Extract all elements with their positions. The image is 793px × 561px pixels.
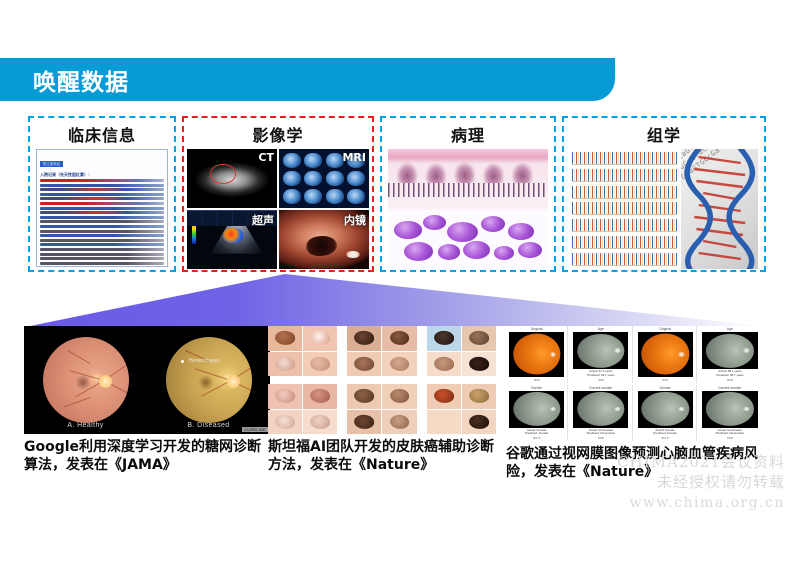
clinical-body: 院江源有始 入院记录（先天性胆红素）： bbox=[30, 149, 174, 270]
retina-cell-foot: 78.6 % bbox=[533, 437, 541, 441]
example-panel-skin-cancer[interactable]: 斯坦福AI团队开发的皮肤癌辅助诊断方法，发表在《Nature》 bbox=[268, 326, 496, 474]
retina-cell-caption: Actual: 58.1 years Predicted: 58.7 years bbox=[716, 370, 743, 378]
retina-image bbox=[573, 332, 628, 369]
retina-cell-title: Age bbox=[727, 327, 733, 331]
clinical-record-image: 院江源有始 入院记录（先天性胆红素）： bbox=[36, 149, 168, 267]
fundus-healthy-eye bbox=[43, 337, 129, 423]
dna-helix-icon bbox=[681, 149, 758, 269]
dna-helix-image: aGTGCcGaTTGCaGTGCcGaTTGC ccGGaTcCaGTGCcG… bbox=[681, 149, 758, 269]
retina-image bbox=[702, 391, 758, 428]
retina-image bbox=[509, 332, 564, 377]
slide-root: 唤醒数据 临床信息 院江源有始 入院记录（先天性胆红素）： bbox=[0, 0, 793, 561]
retina-image bbox=[702, 332, 758, 369]
fundus-pair-image: A. Healthy Hemorrhages bbox=[24, 326, 270, 434]
skin-quad bbox=[268, 326, 337, 376]
category-box-clinical[interactable]: 临床信息 院江源有始 入院记录（先天性胆红素）： bbox=[28, 116, 176, 272]
skin-quad bbox=[427, 326, 496, 376]
fundus-diseased: Hemorrhages B. Diseased bbox=[147, 326, 270, 434]
retina-cell-foot: RGB bbox=[598, 437, 604, 441]
retina-cell: Original RGB bbox=[506, 326, 568, 383]
retina-cell-title: Gender bbox=[660, 386, 671, 390]
ct-image: CT bbox=[187, 149, 277, 208]
retina-cell-foot: RGB bbox=[534, 379, 540, 383]
retina-cell-foot: 78.6 % bbox=[661, 437, 669, 441]
retina-cell: Current smoker Actual: Nonsmoker Predict… bbox=[699, 385, 761, 442]
skin-lesion-grid bbox=[268, 326, 496, 434]
title-banner: 唤醒数据 bbox=[0, 58, 615, 101]
retina-cell: Age Actual: 57.6 years Predicted: 59.1 y… bbox=[570, 326, 632, 383]
panel-caption-cardiovascular: 谷歌通过视网膜图像预测心脑血管疾病风险，发表在《Nature》 bbox=[506, 446, 761, 481]
skin-quad bbox=[347, 326, 416, 376]
retina-cell: Age Actual: 58.1 years Predicted: 58.7 y… bbox=[699, 326, 761, 383]
doc-tag: 院江源有始 bbox=[40, 161, 63, 167]
retina-cell: Original RGB bbox=[635, 326, 697, 383]
fundus-diseased-eye bbox=[166, 337, 252, 423]
retina-cell-caption: Actual: Female Predicted: Female bbox=[525, 429, 548, 437]
pathology-image bbox=[388, 149, 548, 269]
doc-title: 入院记录（先天性胆红素）： bbox=[40, 172, 164, 178]
ultrasound-label: 超声 bbox=[252, 212, 274, 228]
endoscopy-image: 内镜 bbox=[279, 210, 369, 269]
category-box-omics[interactable]: 组学 aGTGCcGaTTGCaGTGCcGaTTGC ccGGaTcCaGTG… bbox=[562, 116, 766, 272]
category-box-pathology[interactable]: 病理 bbox=[380, 116, 556, 272]
imaging-body: CT MRI bbox=[184, 149, 372, 270]
omics-body: aGTGCcGaTTGCaGTGCcGaTTGC ccGGaTcCaGTGCcG… bbox=[564, 149, 764, 270]
ct-label: CT bbox=[258, 151, 274, 164]
retina-image bbox=[573, 391, 628, 428]
examples-row: A. Healthy Hemorrhages bbox=[0, 326, 793, 496]
page-title: 唤醒数据 bbox=[33, 63, 129, 97]
retina-cell-caption: Actual: Female Predicted: Female bbox=[653, 429, 676, 437]
retina-cell: Gender Actual: Female Predicted: Female … bbox=[506, 385, 568, 442]
ultrasound-image: 超声 bbox=[187, 210, 277, 269]
example-panel-cardiovascular[interactable]: Original RGB Age Actual: 57.6 years Pred… bbox=[506, 326, 761, 481]
retina-image bbox=[509, 391, 564, 428]
panel-caption-skin-cancer: 斯坦福AI团队开发的皮肤癌辅助诊断方法，发表在《Nature》 bbox=[268, 439, 496, 474]
category-label-imaging: 影像学 bbox=[252, 122, 303, 146]
retina-cell-caption: Actual: Nonsmoker Predicted: Nonsmoker bbox=[587, 429, 616, 437]
retina-cell-title: Current smoker bbox=[589, 386, 612, 390]
retina-cell-title: Current smoker bbox=[718, 386, 741, 390]
example-panel-diabetic-retinopathy[interactable]: A. Healthy Hemorrhages bbox=[24, 326, 270, 474]
skin-quad bbox=[347, 384, 416, 434]
hemorrhage-annotation: Hemorrhages bbox=[189, 358, 219, 364]
retina-cell: Current smoker Actual: Nonsmoker Predict… bbox=[570, 385, 632, 442]
retina-cell-title: Age bbox=[598, 327, 604, 331]
retina-cell-title: Original bbox=[659, 327, 671, 331]
category-label-omics: 组学 bbox=[647, 122, 681, 146]
sequencing-chromatogram bbox=[570, 149, 679, 269]
pathology-body bbox=[382, 149, 554, 270]
omics-image: aGTGCcGaTTGCaGTGCcGaTTGC ccGGaTcCaGTGCcG… bbox=[570, 149, 758, 269]
mri-label: MRI bbox=[342, 151, 366, 164]
retina-cell-caption: Actual: 57.6 years Predicted: 59.1 years bbox=[587, 370, 614, 378]
fundus-healthy-label: A. Healthy bbox=[24, 422, 147, 429]
retina-cell-foot: RGB bbox=[598, 379, 604, 383]
retina-cell-title: Gender bbox=[531, 386, 542, 390]
skin-quad bbox=[268, 384, 337, 434]
endoscopy-label: 内镜 bbox=[344, 212, 366, 228]
retina-image bbox=[638, 391, 693, 428]
imaging-grid: CT MRI bbox=[187, 149, 369, 269]
retina-cell-foot: RGB bbox=[662, 379, 668, 383]
category-row: 临床信息 院江源有始 入院记录（先天性胆红素）： bbox=[0, 116, 793, 274]
retina-prediction-grid: Original RGB Age Actual: 57.6 years Pred… bbox=[506, 326, 761, 441]
histology-section bbox=[388, 149, 548, 210]
category-label-pathology: 病理 bbox=[451, 122, 485, 146]
panel-caption-retinopathy: Google利用深度学习开发的糖网诊断算法，发表在《JAMA》 bbox=[24, 439, 270, 474]
retina-cell-foot: RGB bbox=[727, 379, 733, 383]
blood-smear-section bbox=[388, 210, 548, 269]
retina-cell-title: Original bbox=[531, 327, 543, 331]
fundus-corner-mark: CURELINE bbox=[242, 427, 268, 432]
category-box-imaging[interactable]: 影像学 CT bbox=[182, 116, 374, 272]
retina-cell: Gender Actual: Female Predicted: Female … bbox=[635, 385, 697, 442]
funnel-arrow bbox=[0, 274, 793, 326]
retina-cell-caption: Actual: Nonsmoker Predicted: Nonsmoker bbox=[716, 429, 745, 437]
skin-quad bbox=[427, 384, 496, 434]
category-label-clinical: 临床信息 bbox=[68, 122, 136, 146]
fundus-healthy: A. Healthy bbox=[24, 326, 147, 434]
mri-image: MRI bbox=[279, 149, 369, 208]
retina-cell-foot: RGB bbox=[727, 437, 733, 441]
retina-image bbox=[638, 332, 693, 377]
